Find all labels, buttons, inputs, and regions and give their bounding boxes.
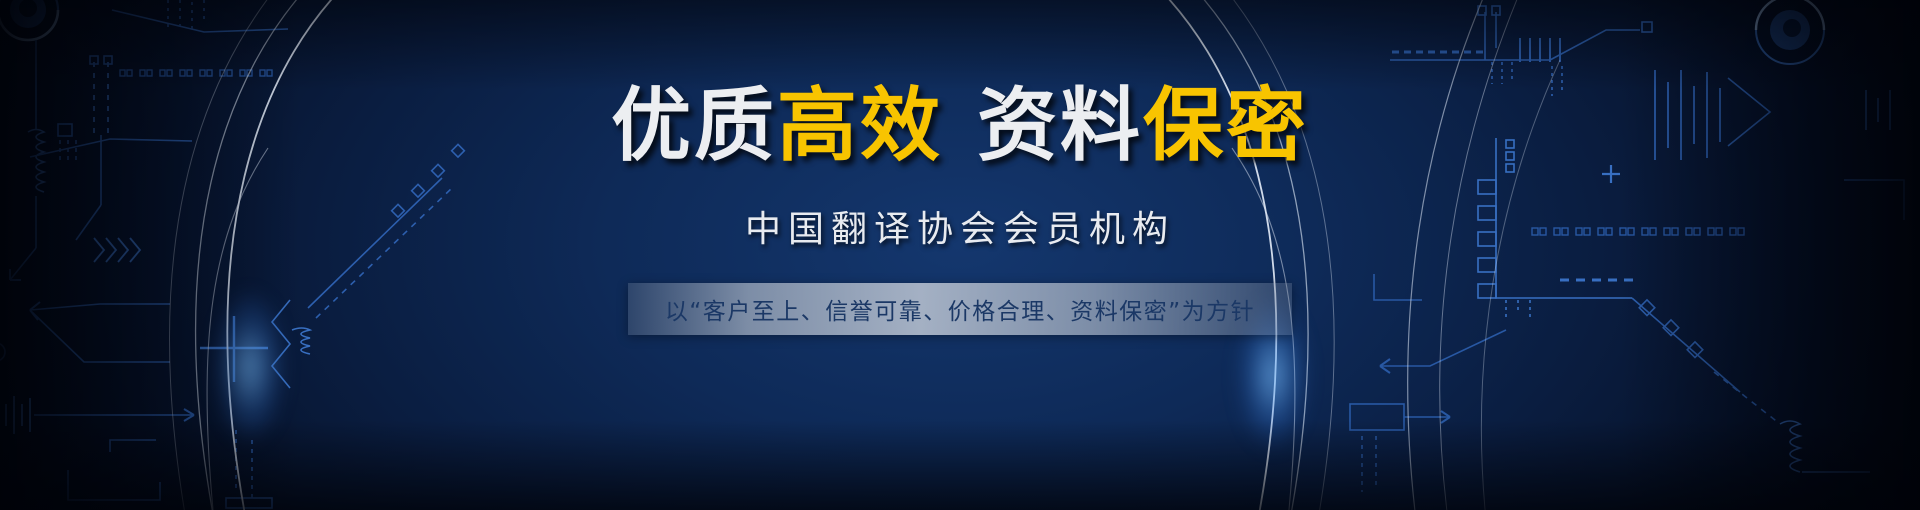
- banner-tagline-box: 以“客户至上、信誉可靠、价格合理、资料保密”为方针: [628, 283, 1292, 335]
- hero-banner: 优质高效资料保密 中国翻译协会会员机构 以“客户至上、信誉可靠、价格合理、资料保…: [0, 0, 1920, 510]
- headline-segment-1: 优质: [611, 79, 777, 172]
- banner-headline: 优质高效资料保密: [0, 0, 1920, 166]
- banner-content: 优质高效资料保密 中国翻译协会会员机构 以“客户至上、信誉可靠、价格合理、资料保…: [0, 0, 1920, 335]
- headline-segment-2: 高效: [777, 79, 943, 172]
- headline-segment-4: 保密: [1143, 79, 1309, 172]
- headline-segment-3: 资料: [977, 79, 1143, 172]
- banner-tagline-text: 以“客户至上、信誉可靠、价格合理、资料保密”为方针: [665, 292, 1255, 326]
- banner-subtitle: 中国翻译协会会员机构: [0, 166, 1920, 252]
